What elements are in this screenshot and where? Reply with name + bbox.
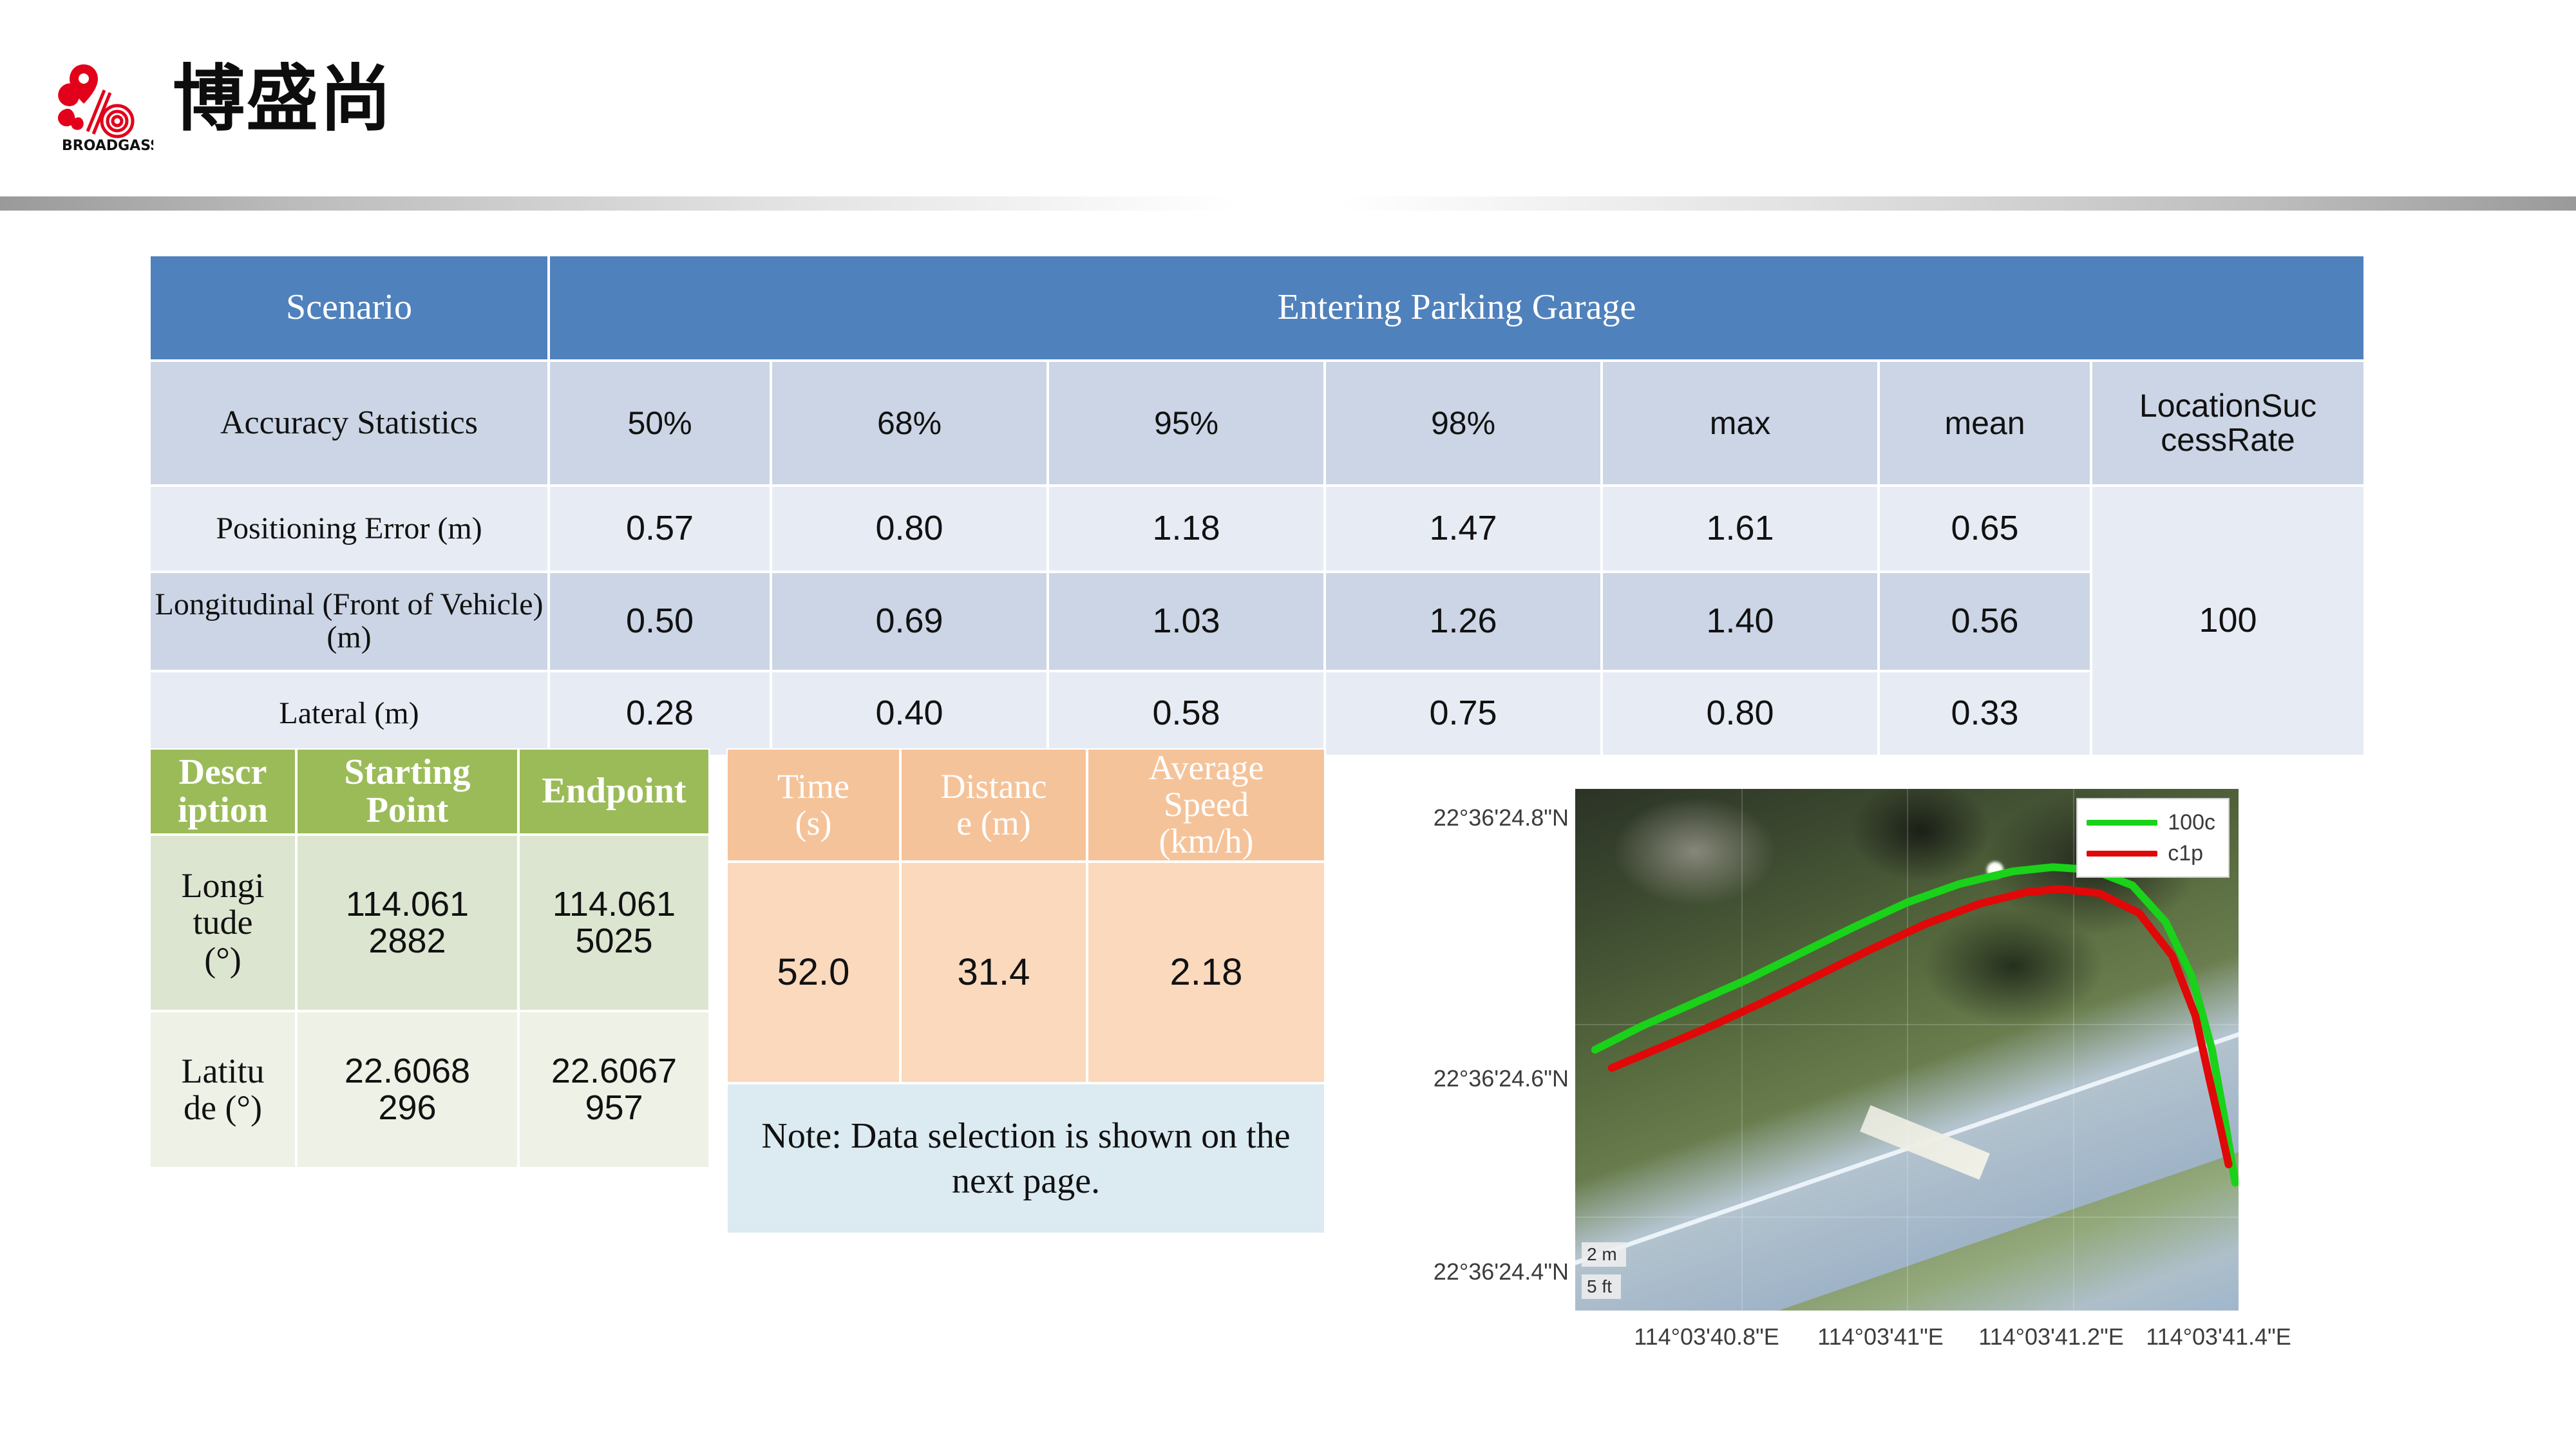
scenario-label: Scenario	[149, 255, 549, 361]
cell-location-success-rate: 100	[2091, 486, 2365, 756]
scenario-value: Entering Parking Garage	[549, 255, 2365, 361]
cell-positioning-error-p98: 1.47	[1325, 486, 1602, 572]
cell-lateral-p95: 0.58	[1048, 671, 1325, 756]
green-label-latitude: Latitu de (°)	[149, 1011, 296, 1168]
trajectory-map-figure: 22°36'24.8"N 22°36'24.6"N 22°36'24.4"N 2…	[1385, 757, 2235, 1375]
lat-start-line2: 296	[378, 1088, 436, 1127]
lon-start-line1: 114.061	[346, 885, 469, 923]
legend-label-100c: 100c	[2168, 810, 2215, 835]
cell-positioning-error-p95: 1.18	[1048, 486, 1325, 572]
lat-start-line1: 22.6068	[345, 1052, 470, 1090]
accuracy-statistics-label: Accuracy Statistics	[149, 361, 549, 486]
data-selection-note: Note: Data selection is shown on the nex…	[726, 1083, 1325, 1234]
dist-line2: e (m)	[956, 804, 1030, 842]
orange-note-row: Note: Data selection is shown on the nex…	[726, 1083, 1325, 1234]
green-header-description: Descr iption	[149, 748, 296, 835]
cell-lateral-p68: 0.40	[771, 671, 1048, 756]
lon-start-line2: 2882	[368, 922, 446, 960]
cell-positioning-error-p68: 0.80	[771, 486, 1048, 572]
orange-header-time: Time (s)	[726, 748, 900, 862]
column-header-p98: 98%	[1325, 361, 1602, 486]
row-label-lateral: Lateral (m)	[149, 671, 549, 756]
cell-positioning-error-mean: 0.65	[1879, 486, 2091, 572]
lon-lbl-line3: (°)	[204, 940, 241, 979]
green-cell-latitude-start: 22.6068 296	[296, 1011, 518, 1168]
coordinates-table: Descr iption Starting Point Endpoint Lon…	[149, 748, 710, 1168]
orange-value-row: 52.0 31.4 2.18	[726, 862, 1325, 1083]
lat-end-line2: 957	[585, 1088, 643, 1127]
green-label-longitude: Longi tude (°)	[149, 835, 296, 1011]
table-row-positioning-error: Positioning Error (m) 0.57 0.80 1.18 1.4…	[149, 486, 2365, 572]
green-cell-longitude-start: 114.061 2882	[296, 835, 518, 1011]
green-row-latitude: Latitu de (°) 22.6068 296 22.6067 957	[149, 1011, 710, 1168]
lon-end-line1: 114.061	[553, 885, 676, 923]
speed-line2: Speed	[1164, 785, 1249, 824]
x-axis-tick-2: 114°03'41"E	[1817, 1323, 1944, 1350]
x-axis-tick-3: 114°03'41.2"E	[1978, 1323, 2124, 1350]
orange-header-distance: Distanc e (m)	[900, 748, 1087, 862]
green-cell-longitude-end: 114.061 5025	[518, 835, 710, 1011]
table-row-lateral: Lateral (m) 0.28 0.40 0.58 0.75 0.80 0.3…	[149, 671, 2365, 756]
y-axis-tick-2: 22°36'24.6"N	[1434, 1065, 1569, 1092]
cell-longitudinal-p98: 1.26	[1325, 572, 1602, 671]
dist-line1: Distanc	[941, 767, 1047, 806]
cell-longitudinal-p68: 0.69	[771, 572, 1048, 671]
lon-end-line2: 5025	[575, 922, 652, 960]
cell-lateral-mean: 0.33	[1879, 671, 2091, 756]
desc-line1: Descr	[179, 752, 267, 792]
lon-lbl-line2: tude	[193, 903, 253, 942]
legend-swatch-c1p	[2087, 851, 2157, 857]
table-row-scenario: Scenario Entering Parking Garage	[149, 255, 2365, 361]
table-row-longitudinal: Longitudinal (Front of Vehicle) (m) 0.50…	[149, 572, 2365, 671]
column-header-max: max	[1602, 361, 1879, 486]
header-divider	[0, 196, 2576, 211]
desc-line2: iption	[178, 790, 268, 830]
column-header-mean: mean	[1879, 361, 2091, 486]
start-line2: Point	[366, 790, 449, 830]
green-header-endpoint: Endpoint	[518, 748, 710, 835]
x-axis-tick-4: 114°03'41.4"E	[2146, 1323, 2291, 1350]
column-header-p95: 95%	[1048, 361, 1325, 486]
scalebar-imperial: 5 ft	[1582, 1274, 1621, 1299]
cell-longitudinal-p95: 1.03	[1048, 572, 1325, 671]
lat-lbl-line1: Latitu	[182, 1052, 265, 1090]
y-axis-tick-1: 22°36'24.8"N	[1434, 804, 1569, 831]
cell-lateral-max: 0.80	[1602, 671, 1879, 756]
green-header-starting-point: Starting Point	[296, 748, 518, 835]
lsr-line1: LocationSuc	[2139, 388, 2316, 424]
orange-cell-distance: 31.4	[900, 862, 1087, 1083]
cell-positioning-error-max: 1.61	[1602, 486, 1879, 572]
start-line1: Starting	[345, 752, 471, 792]
broadgass-pin-logo: BROADGASS	[50, 50, 153, 153]
time-line2: (s)	[795, 804, 832, 842]
column-header-p50: 50%	[549, 361, 771, 486]
brand-header: BROADGASS 博盛尚	[50, 50, 393, 153]
orange-cell-time: 52.0	[726, 862, 900, 1083]
y-axis-tick-3: 22°36'24.4"N	[1434, 1258, 1569, 1285]
legend-item-c1p: c1p	[2087, 838, 2215, 869]
speed-line1: Average	[1149, 748, 1264, 787]
cell-longitudinal-max: 1.40	[1602, 572, 1879, 671]
lon-lbl-line1: Longi	[182, 866, 265, 905]
cell-longitudinal-p50: 0.50	[549, 572, 771, 671]
cell-lateral-p50: 0.28	[549, 671, 771, 756]
lat-lbl-line2: de (°)	[184, 1088, 262, 1127]
row-label-longitudinal: Longitudinal (Front of Vehicle) (m)	[149, 572, 549, 671]
satellite-map-plot: 2 m 5 ft 100c c1p	[1575, 789, 2239, 1311]
orange-cell-average-speed: 2.18	[1087, 862, 1325, 1083]
lat-end-line1: 22.6067	[551, 1052, 677, 1090]
table-row-headers: Accuracy Statistics 50% 68% 95% 98% max …	[149, 361, 2365, 486]
lsr-line2: cessRate	[2161, 422, 2295, 458]
scalebar-metric: 2 m	[1582, 1242, 1626, 1267]
map-legend: 100c c1p	[2076, 798, 2230, 878]
x-axis-tick-1: 114°03'40.8"E	[1634, 1323, 1779, 1350]
column-header-location-success-rate: LocationSuc cessRate	[2091, 361, 2365, 486]
speed-line3: (km/h)	[1159, 822, 1254, 860]
cell-lateral-p98: 0.75	[1325, 671, 1602, 756]
cell-positioning-error-p50: 0.57	[549, 486, 771, 572]
accuracy-statistics-table: Scenario Entering Parking Garage Accurac…	[149, 255, 2365, 756]
brand-name: 博盛尚	[173, 63, 393, 135]
cell-longitudinal-mean: 0.56	[1879, 572, 2091, 671]
trace-c1p	[1612, 889, 2229, 1165]
trip-summary-table: Time (s) Distanc e (m) Average Speed (km…	[726, 748, 1325, 1234]
green-row-longitude: Longi tude (°) 114.061 2882 114.061 5025	[149, 835, 710, 1011]
legend-swatch-100c	[2087, 820, 2157, 826]
legend-label-c1p: c1p	[2168, 841, 2203, 866]
green-header-row: Descr iption Starting Point Endpoint	[149, 748, 710, 835]
orange-header-average-speed: Average Speed (km/h)	[1087, 748, 1325, 862]
legend-item-100c: 100c	[2087, 807, 2215, 838]
orange-header-row: Time (s) Distanc e (m) Average Speed (km…	[726, 748, 1325, 862]
column-header-p68: 68%	[771, 361, 1048, 486]
logo-wordmark: BROADGASS	[62, 138, 153, 153]
green-cell-latitude-end: 22.6067 957	[518, 1011, 710, 1168]
time-line1: Time	[777, 767, 849, 806]
row-label-positioning-error: Positioning Error (m)	[149, 486, 549, 572]
